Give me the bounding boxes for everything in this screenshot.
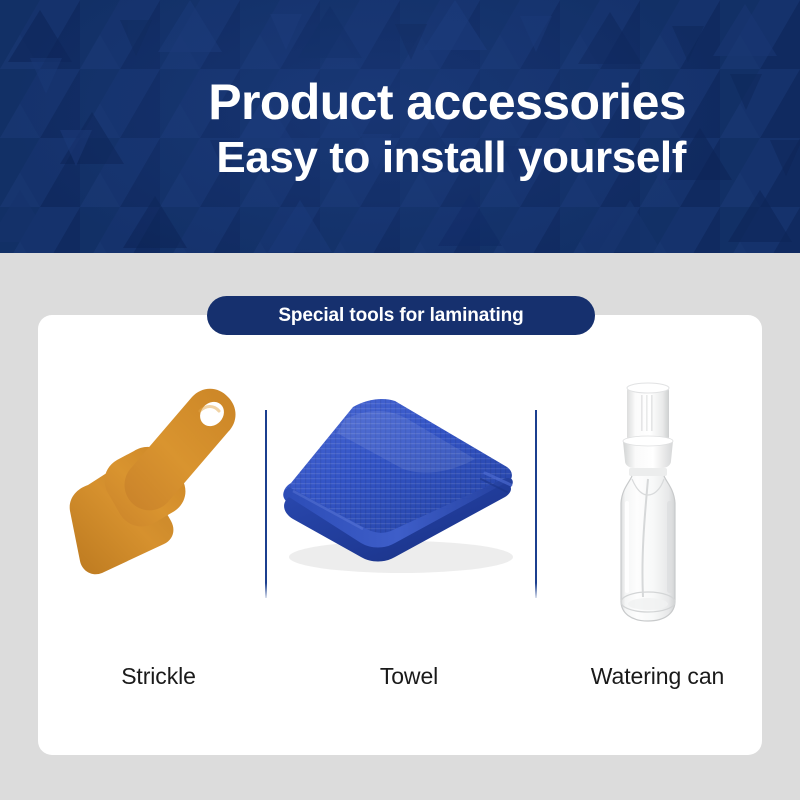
list-item: Towel	[267, 315, 535, 755]
tools-list: Strickle	[38, 315, 762, 755]
list-item-label: Strickle	[45, 663, 272, 690]
folded-microfiber-towel-icon	[267, 375, 535, 645]
watering-can-artwork-column: Watering can	[537, 315, 762, 755]
page-subtitle: Easy to install yourself	[216, 133, 686, 182]
list-item: Strickle	[38, 315, 265, 755]
towel-artwork	[267, 375, 535, 645]
strickle-artwork	[38, 375, 265, 645]
squeegee-scraper-icon	[38, 375, 265, 645]
header-banner: Product accessories Easy to install your…	[0, 0, 800, 253]
clear-spray-bottle-icon	[537, 375, 762, 645]
section-badge: Special tools for laminating	[207, 296, 595, 335]
list-item-label: Towel	[275, 663, 543, 690]
page-title: Product accessories	[208, 76, 686, 129]
section-badge-label: Special tools for laminating	[278, 305, 523, 327]
promo-page: Product accessories Easy to install your…	[0, 0, 800, 800]
list-item-label: Watering can	[545, 663, 770, 690]
header-text-block: Product accessories Easy to install your…	[0, 0, 686, 253]
watering-can-artwork	[537, 375, 762, 645]
